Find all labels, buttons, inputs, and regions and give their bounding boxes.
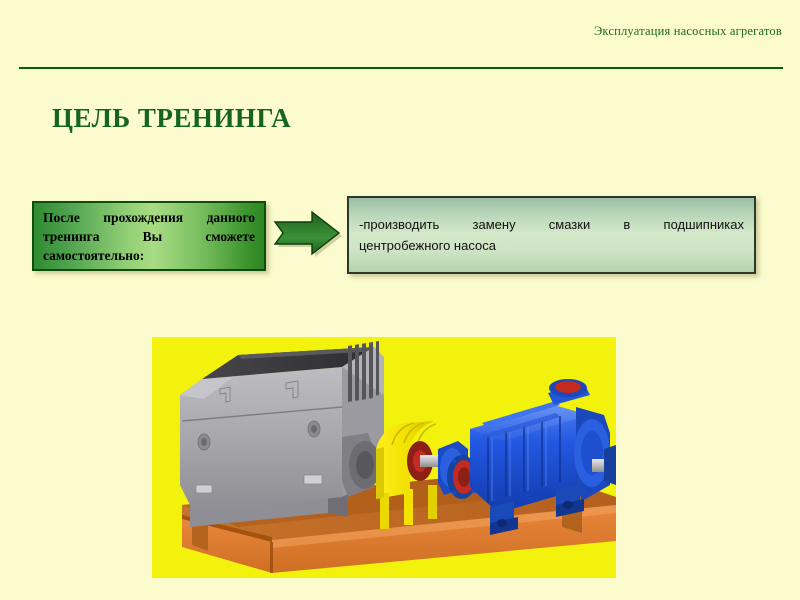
objective-item-text: -производить замену смазки в подшипниках… xyxy=(349,214,754,256)
objective-item-box: -производить замену смазки в подшипниках… xyxy=(347,196,756,274)
objective-item-line-2: центробежного насоса xyxy=(359,235,744,256)
right-arrow-icon xyxy=(272,209,342,259)
header-divider xyxy=(19,67,783,69)
objective-item-line-1: -производить замену смазки в подшипниках xyxy=(359,214,744,235)
objective-intro-box: После прохождения данного тренинга Вы см… xyxy=(32,201,266,271)
pump-unit-illustration xyxy=(152,337,616,578)
page-title: ЦЕЛЬ ТРЕНИНГА xyxy=(52,103,291,134)
objective-intro-text: После прохождения данного тренинга Вы см… xyxy=(34,208,264,265)
slide: Эксплуатация насосных агрегатов ЦЕЛЬ ТРЕ… xyxy=(0,0,800,600)
slide-header-text: Эксплуатация насосных агрегатов xyxy=(0,24,782,39)
